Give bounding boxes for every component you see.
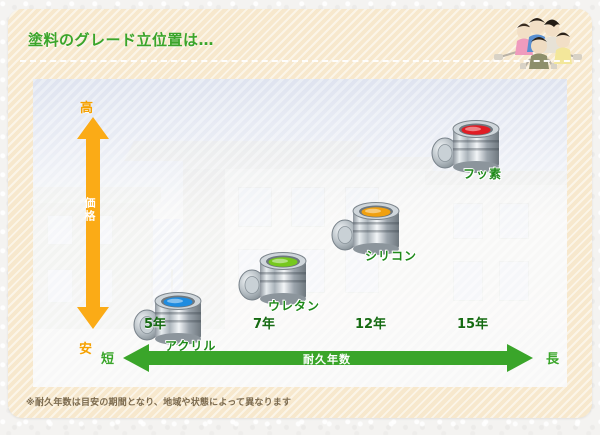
year-tick-acrylic: 5年 bbox=[144, 313, 166, 332]
durability-axis-arrow-icon bbox=[123, 343, 533, 373]
paint-label-silicon: シリコン bbox=[365, 247, 417, 264]
durability-axis-low-label: 短 bbox=[101, 348, 114, 367]
paint-item-silicon[interactable]: シリコン bbox=[331, 189, 405, 259]
paint-item-urethane[interactable]: ウレタン bbox=[238, 239, 312, 309]
year-tick-silicon: 12年 bbox=[355, 313, 386, 332]
paint-label-fluorine: フッ素 bbox=[463, 165, 502, 182]
durability-axis-high-label: 長 bbox=[546, 348, 559, 367]
header-divider bbox=[20, 60, 580, 62]
price-axis-high-label: 高 bbox=[80, 97, 93, 116]
year-tick-urethane: 7年 bbox=[253, 313, 275, 332]
content-card: 塗料のグレード立位置は… bbox=[8, 9, 592, 418]
footnote-text: ※耐久年数は目安の期間となり、地域や状態によって異なります bbox=[26, 395, 291, 408]
card-header: 塗料のグレード立位置は… bbox=[8, 9, 592, 61]
durability-axis: 短 耐久年数 長 bbox=[93, 341, 561, 375]
chart-panel: 高 価格 安 bbox=[33, 79, 567, 387]
price-axis-arrow-icon bbox=[77, 117, 109, 329]
price-axis: 高 価格 安 bbox=[71, 97, 115, 369]
year-tick-fluorine: 15年 bbox=[457, 313, 488, 332]
price-axis-title: 価格 bbox=[84, 197, 95, 223]
price-axis-low-label: 安 bbox=[79, 338, 92, 357]
paint-label-urethane: ウレタン bbox=[268, 297, 320, 314]
page-title: 塗料のグレード立位置は… bbox=[28, 29, 214, 50]
paint-item-fluorine[interactable]: フッ素 bbox=[431, 107, 505, 177]
